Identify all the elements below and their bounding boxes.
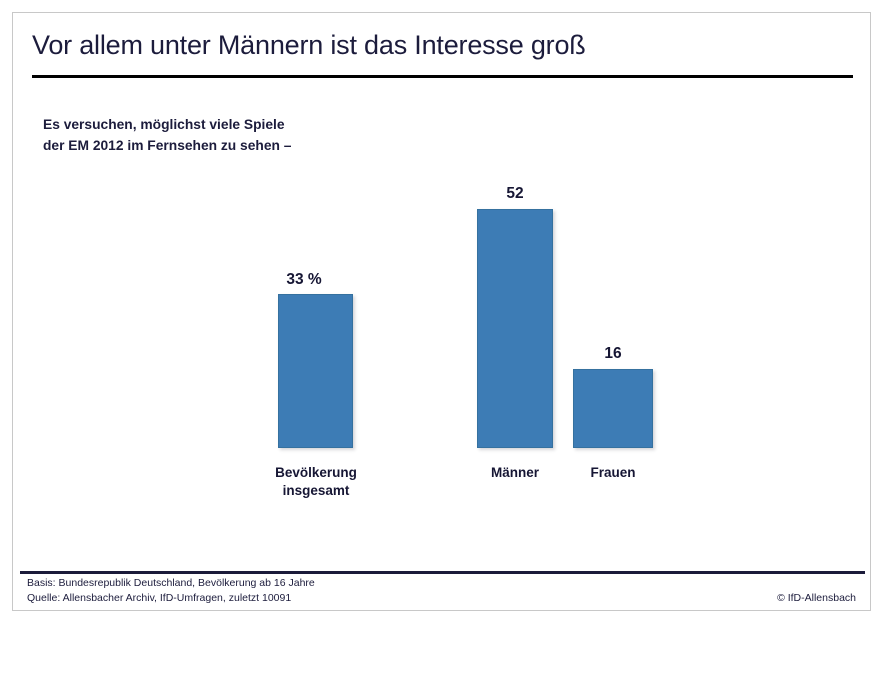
bar-value-label: 33 % [266,271,342,289]
bar-category-label-line-1: Bevölkerung [245,464,387,482]
bar-category-label: Frauen [553,464,673,482]
bar-value-label: 16 [573,345,653,363]
bar-chart-plot-area: 33 % Bevölkerung insgesamt 52 Männer 16 … [13,13,871,533]
source-note: Basis: Bundesrepublik Deutschland, Bevöl… [27,576,315,606]
bar-frauen[interactable] [573,369,653,448]
bar-category-label-line-1: Frauen [553,464,673,482]
bar-category-label: Bevölkerung insgesamt [245,464,387,500]
copyright-notice: © IfD-Allensbach [777,592,856,604]
bar-maenner[interactable] [477,209,553,448]
footer-divider [20,571,865,574]
bar-bevoelkerung-insgesamt[interactable] [278,294,353,448]
source-note-quelle: Quelle: Allensbacher Archiv, IfD-Umfrage… [27,591,315,606]
slide-frame: Vor allem unter Männern ist das Interess… [12,12,871,611]
source-note-basis: Basis: Bundesrepublik Deutschland, Bevöl… [27,576,315,591]
bar-category-label-line-2: insgesamt [245,482,387,500]
bar-value-label: 52 [477,185,553,203]
